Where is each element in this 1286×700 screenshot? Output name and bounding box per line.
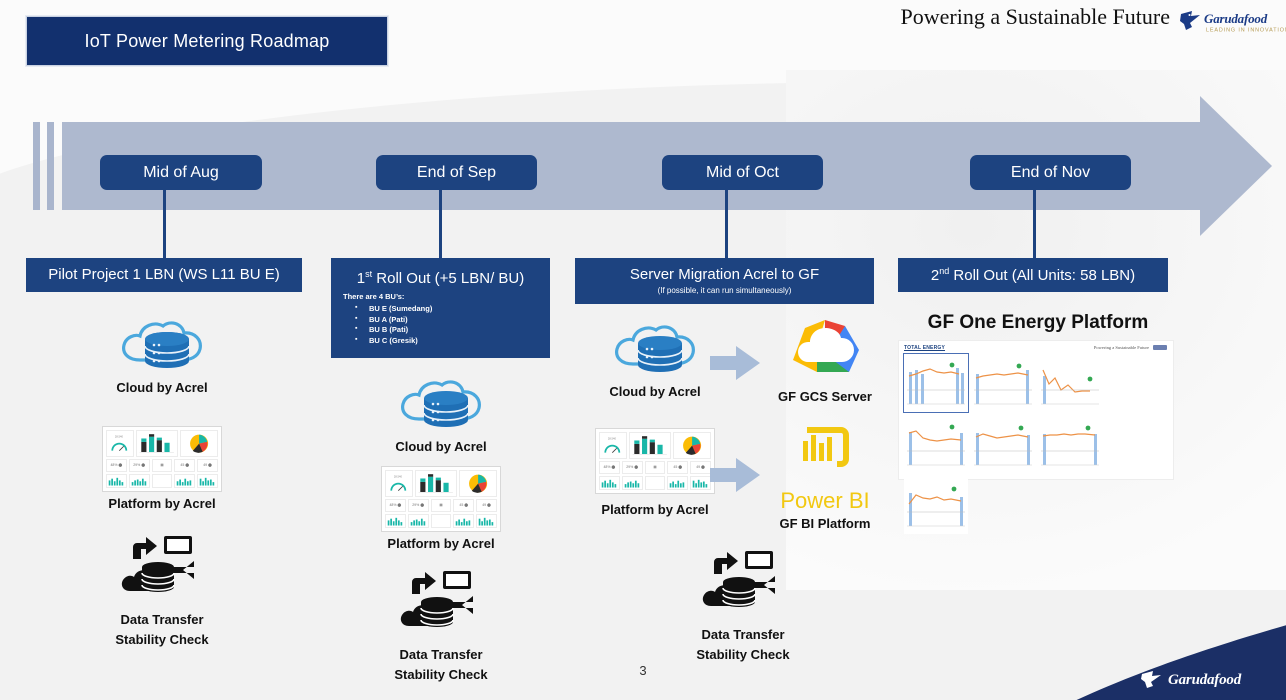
heading-superscript: nd [939, 266, 949, 276]
bu-list-item: BU C (Gresik) [355, 336, 432, 347]
item-label-line1: Data Transfer [62, 612, 262, 628]
column-heading-text: Pilot Project 1 LBN (WS L11 BU E) [48, 266, 279, 284]
item-label-line2: Stability Check [643, 647, 843, 663]
bu-list-item: BU B (Pati) [355, 325, 432, 336]
milestone-stem-1 [163, 190, 166, 262]
milestone-pill-4[interactable]: End of Nov [970, 155, 1131, 190]
item-label-line1: Data Transfer [341, 647, 541, 663]
dashboard-thumbnail-icon: 28.540 [595, 428, 715, 494]
logo-wordmark: Garudafood [1168, 672, 1241, 689]
logo-subtext: LEADING IN INNOVATION [1206, 27, 1286, 33]
milestone-label: Mid of Oct [706, 164, 779, 182]
cloud-database-icon [609, 318, 701, 380]
slide-title-banner: IoT Power Metering Roadmap [26, 16, 388, 66]
milestone-stem-4 [1033, 190, 1036, 258]
timeline-tail-stripe-2 [47, 122, 54, 210]
item-label-line2: Stability Check [62, 632, 262, 648]
bu-note: There are 4 BU’s: BU E (Sumedang) BU A (… [339, 292, 432, 347]
item-data-transfer-3: Data Transfer Stability Check [643, 548, 843, 664]
column-heading-1: Pilot Project 1 LBN (WS L11 BU E) [26, 258, 302, 292]
milestone-stem-3 [725, 190, 728, 260]
cloud-database-icon [395, 373, 487, 435]
page-number: 3 [0, 663, 1286, 678]
column-heading-text: Server Migration Acrel to GF [630, 266, 819, 284]
gf-dashboard-board: TOTAL ENERGY Powering a Sustainable Futu… [898, 340, 1174, 480]
mini-chart [1038, 354, 1102, 412]
item-label: GF BI Platform [755, 516, 895, 532]
garudafood-logo-top: Garudafood LEADING IN INNOVATION [1178, 8, 1278, 40]
svg-text:28.540: 28.540 [115, 434, 124, 438]
column-pilot-project: Pilot Project 1 LBN (WS L11 BU E) Cloud … [26, 258, 306, 292]
milestone-pill-2[interactable]: End of Sep [376, 155, 537, 190]
cloud-database-icon [116, 314, 208, 376]
logo-wordmark: Garudafood [1204, 11, 1267, 27]
gf-chart-grid [904, 354, 1168, 534]
gf-panel-title: GF One Energy Platform [898, 312, 1178, 334]
bu-note-title: There are 4 BU’s: [343, 292, 432, 303]
column-heading-3: Server Migration Acrel to GF (If possibl… [575, 258, 874, 304]
gf-board-header-right: Powering a Sustainable Future [1094, 345, 1167, 350]
item-label: Platform by Acrel [52, 496, 272, 512]
column-heading-2: 1st Roll Out (+5 LBN/ BU) There are 4 BU… [331, 258, 550, 358]
milestone-label: End of Nov [1011, 164, 1090, 182]
slide-root: IoT Power Metering Roadmap Powering a Su… [0, 0, 1286, 700]
gf-board-tagline: Powering a Sustainable Future [1094, 345, 1149, 350]
bu-list-item: BU A (Pati) [355, 315, 432, 326]
header-tagline: Powering a Sustainable Future [901, 4, 1170, 30]
column-second-rollout: 2nd Roll Out (All Units: 58 LBN) GF One … [898, 258, 1183, 292]
gf-one-energy-platform: GF One Energy Platform TOTAL ENERGY Powe… [898, 312, 1178, 480]
page-title: IoT Power Metering Roadmap [85, 31, 330, 52]
item-label: GF GCS Server [750, 389, 900, 405]
item-label: Cloud by Acrel [62, 380, 262, 396]
item-cloud-by-acrel-1: Cloud by Acrel [62, 314, 262, 396]
item-label: Platform by Acrel [570, 502, 740, 518]
svg-text:28.540: 28.540 [608, 436, 617, 440]
item-platform-by-acrel-1: 28.540 [52, 426, 272, 512]
item-data-transfer-1: Data Transfer Stability Check [62, 533, 262, 649]
column-server-migration: Server Migration Acrel to GF (If possibl… [575, 258, 875, 304]
mini-chart [904, 476, 968, 534]
data-transfer-icon [120, 533, 204, 603]
item-label: Cloud by Acrel [341, 439, 541, 455]
power-bi-wordmark: Power BI [755, 490, 895, 512]
data-transfer-icon [399, 568, 483, 638]
item-label: Platform by Acrel [331, 536, 551, 552]
milestone-label: End of Sep [417, 164, 496, 182]
item-gf-bi-platform: Power BI GF BI Platform [755, 423, 895, 532]
milestone-pill-1[interactable]: Mid of Aug [100, 155, 262, 190]
milestone-stem-2 [439, 190, 442, 260]
gf-board-logo [1153, 345, 1167, 350]
timeline-tail-stripe-1 [33, 122, 40, 210]
mini-chart [971, 415, 1035, 473]
dashboard-thumbnail-icon: 28.540 [102, 426, 222, 492]
data-transfer-icon [701, 548, 785, 618]
item-cloud-by-acrel-2: Cloud by Acrel [341, 373, 541, 455]
garuda-bird-icon [1140, 668, 1166, 690]
heading-prefix: 2 [931, 267, 939, 284]
milestone-pill-3[interactable]: Mid of Oct [662, 155, 823, 190]
column-first-rollout: 1st Roll Out (+5 LBN/ BU) There are 4 BU… [331, 258, 551, 358]
item-gf-gcs-server: GF GCS Server [750, 316, 900, 405]
dashboard-thumbnail-icon: 28.540 [381, 466, 501, 532]
heading-rest: Roll Out (+5 LBN/ BU) [372, 270, 524, 287]
google-cloud-icon [783, 316, 867, 380]
heading-rest: Roll Out (All Units: 58 LBN) [949, 267, 1135, 284]
item-platform-by-acrel-2: 28.540 [331, 466, 551, 552]
column-heading-text: 2nd Roll Out (All Units: 58 LBN) [931, 266, 1135, 285]
mini-chart [904, 354, 968, 412]
svg-text:28.540: 28.540 [394, 474, 403, 478]
migration-arrow-2 [710, 458, 760, 497]
milestone-label: Mid of Aug [143, 164, 219, 182]
bu-list-item: BU E (Sumedang) [355, 304, 432, 315]
mini-chart [904, 415, 968, 473]
item-label-line1: Data Transfer [643, 627, 843, 643]
column-subheading-text: (If possible, it can run simultaneously) [658, 286, 792, 296]
item-label: Cloud by Acrel [575, 384, 735, 400]
heading-prefix: 1 [357, 270, 365, 287]
column-heading-text: 1st Roll Out (+5 LBN/ BU) [339, 269, 542, 288]
garudafood-logo-bottom: Garudafood [1140, 668, 1260, 694]
garuda-bird-icon [1178, 8, 1204, 34]
bu-list: BU E (Sumedang) BU A (Pati) BU B (Pati) … [343, 304, 432, 348]
power-bi-icon [777, 423, 873, 485]
mini-chart [971, 354, 1035, 412]
mini-chart [1038, 415, 1102, 473]
column-heading-4: 2nd Roll Out (All Units: 58 LBN) [898, 258, 1168, 292]
timeline-arrow-head [1200, 96, 1272, 236]
